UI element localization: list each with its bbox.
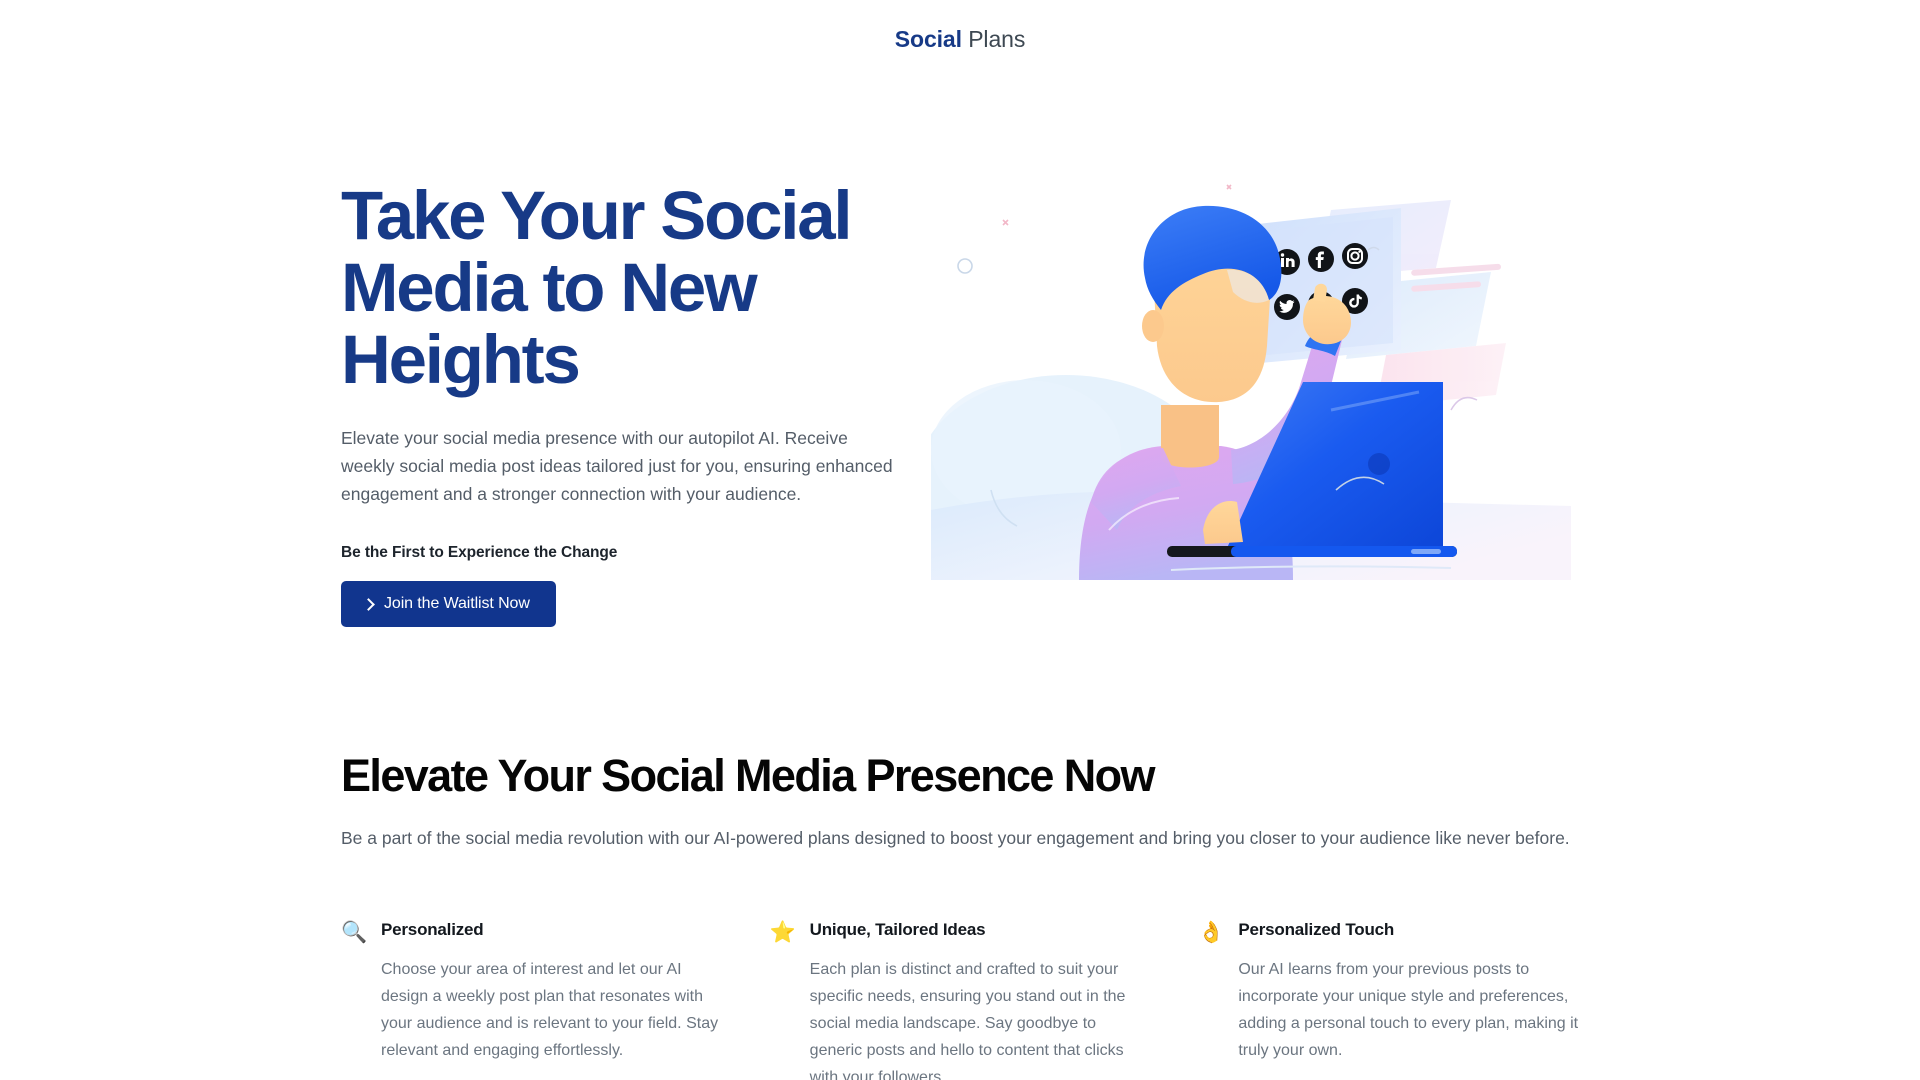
feature-title: Personalized Touch <box>1238 919 1579 941</box>
hero-content: Take Your Social Media to New Heights El… <box>341 140 901 627</box>
decor-circle <box>958 259 972 273</box>
feature-body: Personalized Touch Our AI learns from yo… <box>1238 919 1579 1064</box>
feature-card: 👌 Personalized Touch Our AI learns from … <box>1198 919 1579 1080</box>
brand-name-secondary: Plans <box>962 26 1025 52</box>
page-container: Take Your Social Media to New Heights El… <box>0 78 1920 1080</box>
feature-card: ⭐ Unique, Tailored Ideas Each plan is di… <box>770 919 1151 1080</box>
social-icon-instagram <box>1342 243 1368 269</box>
star-icon: ⭐ <box>770 920 796 946</box>
brand-logo[interactable]: Social Plans <box>895 26 1025 53</box>
feature-text: Our AI learns from your previous posts t… <box>1238 956 1579 1064</box>
hero-subtitle: Elevate your social media presence with … <box>341 424 901 508</box>
feature-title: Personalized <box>381 919 722 941</box>
feature-text: Choose your area of interest and let our… <box>381 956 722 1064</box>
hero-title: Take Your Social Media to New Heights <box>341 180 881 396</box>
brand-name-primary: Social <box>895 26 962 52</box>
ok-hand-icon: 👌 <box>1198 920 1224 946</box>
social-icon-twitter <box>1274 294 1300 320</box>
section-title: Elevate Your Social Media Presence Now <box>341 750 1579 802</box>
decor-cross-2 <box>1227 185 1231 189</box>
feature-text: Each plan is distinct and crafted to sui… <box>810 956 1151 1080</box>
feature-list: 🔍 Personalized Choose your area of inter… <box>341 919 1579 1080</box>
hero-cta-label: Be the First to Experience the Change <box>341 544 901 562</box>
feature-body: Personalized Choose your area of interes… <box>381 919 722 1064</box>
section-subtitle: Be a part of the social media revolution… <box>341 825 1579 852</box>
hero-illustration-wrapper <box>951 150 1579 580</box>
features-section: Elevate Your Social Media Presence Now B… <box>341 638 1579 1080</box>
social-icon-facebook <box>1308 246 1334 272</box>
chevron-right-icon <box>363 599 373 609</box>
site-header: Social Plans <box>0 0 1920 78</box>
decor-cross <box>1003 220 1008 225</box>
magnifying-glass-icon: 🔍 <box>341 920 367 946</box>
join-waitlist-button-label: Join the Waitlist Now <box>384 595 530 613</box>
join-waitlist-button[interactable]: Join the Waitlist Now <box>341 581 556 627</box>
hero-section: Take Your Social Media to New Heights El… <box>341 78 1579 638</box>
feature-card: 🔍 Personalized Choose your area of inter… <box>341 919 722 1080</box>
person-at-laptop-illustration <box>931 150 1571 580</box>
feature-body: Unique, Tailored Ideas Each plan is dist… <box>810 919 1151 1080</box>
feature-title: Unique, Tailored Ideas <box>810 919 1151 941</box>
